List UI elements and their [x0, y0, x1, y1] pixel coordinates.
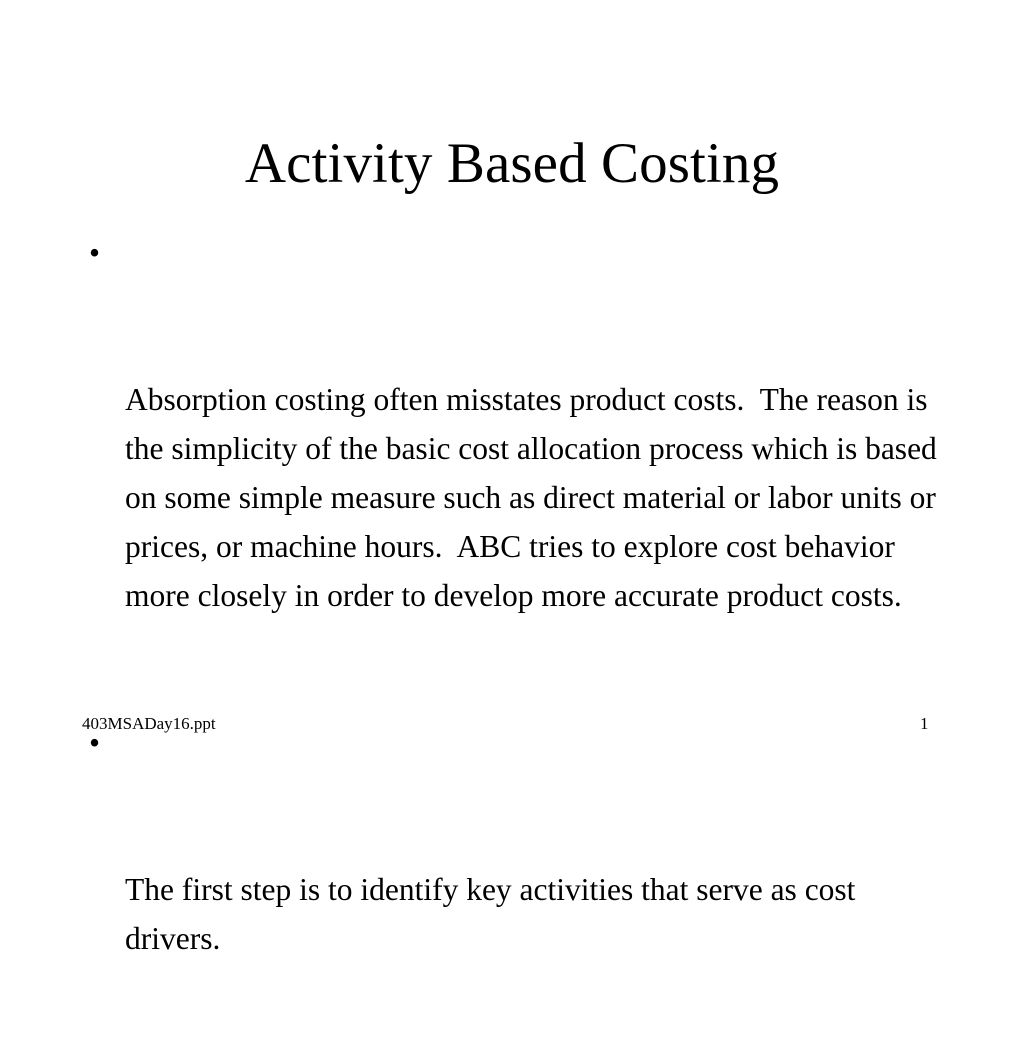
list-item: • Absorption costing often misstates pro… — [78, 228, 954, 718]
footer-page-number: 1 — [920, 714, 950, 734]
list-item: • The first step is to identify key acti… — [78, 718, 954, 1061]
list-item-text: Absorption costing often misstates produ… — [125, 375, 954, 620]
page-title: Activity Based Costing — [0, 134, 1024, 194]
footer-filename: 403MSADay16.ppt — [82, 714, 216, 734]
slide-canvas: Activity Based Costing • Absorption cost… — [0, 0, 1024, 768]
list-item-text: The first step is to identify key activi… — [125, 865, 954, 963]
bullet-icon: • — [89, 228, 109, 277]
slide-footer: 403MSADay16.ppt 1 — [0, 708, 1024, 768]
slide-body: • Absorption costing often misstates pro… — [78, 228, 954, 1061]
